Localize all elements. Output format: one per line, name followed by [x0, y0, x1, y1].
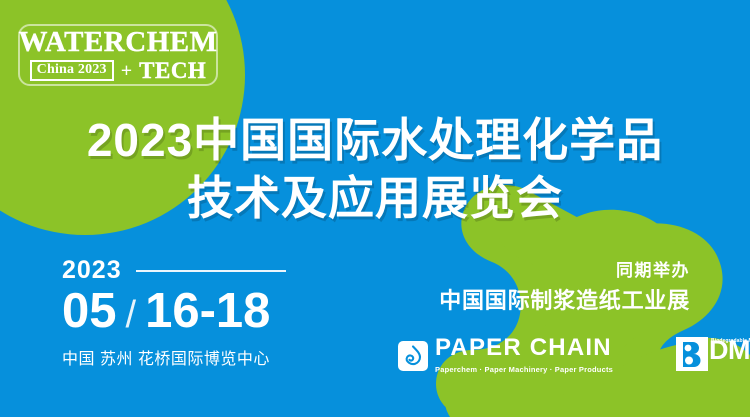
date-main-row: 05 / 16-18: [62, 287, 362, 336]
title-line-2: 技术及应用展览会: [0, 170, 750, 228]
date-venue-block: 2023 05 / 16-18 中国 苏州 花桥国际博览中心: [62, 258, 362, 369]
paper-chain-logo: PAPER CHAIN Paperchem · Paper Machinery …: [398, 336, 624, 376]
waterchem-logo: WATERCHEM China 2023 + TECH: [18, 24, 218, 86]
logo-tech-word: TECH: [139, 59, 206, 82]
date-days: 16-18: [145, 287, 270, 336]
event-poster: WATERCHEM China 2023 + TECH 2023中国国际水处理化…: [0, 0, 750, 417]
title-line-1: 2023中国国际水处理化学品: [0, 112, 750, 170]
concurrent-event-name: 中国国际制浆造纸工业展: [439, 290, 690, 312]
date-month: 05: [62, 287, 117, 336]
page-title: 2023中国国际水处理化学品 技术及应用展览会: [0, 112, 750, 228]
bdm-micro-text: Biodegradable Material: [711, 339, 750, 344]
logo-china-badge: China 2023: [30, 60, 114, 81]
bdm-logo: Biodegradable Material DM: [676, 337, 750, 371]
logo-plus-sign: +: [121, 61, 132, 81]
water-swirl-icon: [398, 341, 428, 371]
concurrent-event-block: 同期举办 中国国际制浆造纸工业展: [439, 262, 690, 312]
date-divider-rule: [136, 270, 286, 272]
venue-text: 中国 苏州 花桥国际博览中心: [62, 345, 362, 369]
bdm-text: Biodegradable Material DM: [709, 337, 750, 364]
logo-subrow: China 2023 + TECH: [30, 59, 207, 82]
logo-wordmark: WATERCHEM: [19, 28, 218, 57]
bdm-b-mark: [676, 337, 708, 371]
date-year: 2023: [62, 258, 122, 283]
paper-chain-text: PAPER CHAIN Paperchem · Paper Machinery …: [435, 336, 624, 376]
concurrent-kicker: 同期举办: [439, 262, 690, 279]
date-separator: /: [126, 296, 137, 334]
paper-chain-tagline: Paperchem · Paper Machinery · Paper Prod…: [435, 365, 613, 374]
date-year-row: 2023: [62, 258, 362, 283]
paper-chain-name: PAPER CHAIN: [435, 334, 612, 361]
partner-logo-row: PAPER CHAIN Paperchem · Paper Machinery …: [398, 336, 750, 376]
